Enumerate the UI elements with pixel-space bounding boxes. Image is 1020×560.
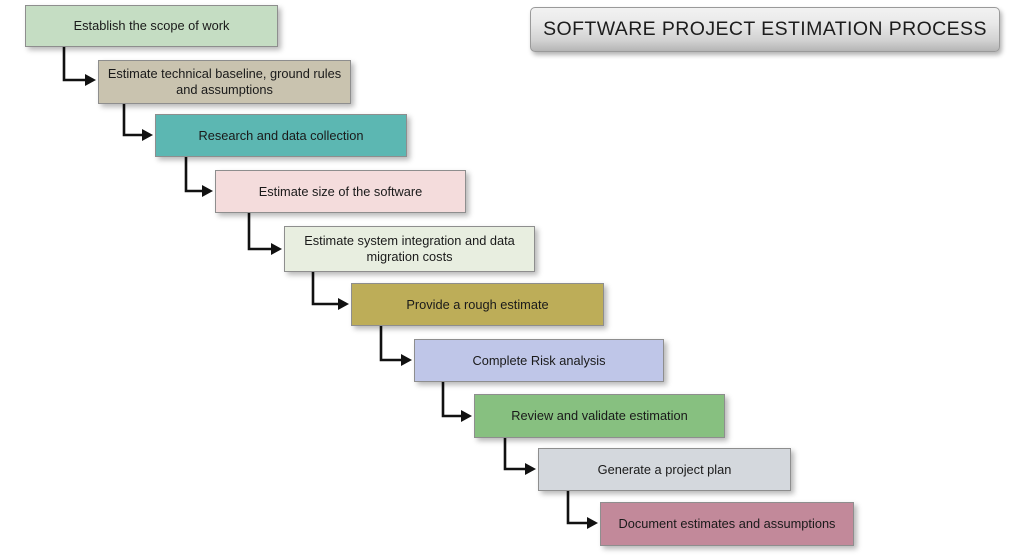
step-label: Provide a rough estimate <box>406 297 548 313</box>
flowchart-canvas: SOFTWARE PROJECT ESTIMATION PROCESS Esta… <box>0 0 1020 560</box>
step-label: Document estimates and assumptions <box>619 516 836 532</box>
connector-arrow <box>186 157 213 197</box>
connector-arrow <box>381 326 412 366</box>
step-label: Complete Risk analysis <box>473 353 606 369</box>
process-step-review-validate[interactable]: Review and validate estimation <box>474 394 725 438</box>
diagram-title-text: SOFTWARE PROJECT ESTIMATION PROCESS <box>543 18 987 41</box>
connector-arrow <box>124 104 153 141</box>
connector-arrow <box>64 47 96 86</box>
process-step-estimate-integration-migration[interactable]: Estimate system integration and data mig… <box>284 226 535 272</box>
connector-arrow <box>443 382 472 422</box>
connector-arrow <box>313 272 349 310</box>
step-label: Generate a project plan <box>598 462 732 478</box>
step-label: Research and data collection <box>198 128 363 144</box>
process-step-research-data-collection[interactable]: Research and data collection <box>155 114 407 157</box>
diagram-title-box: SOFTWARE PROJECT ESTIMATION PROCESS <box>530 7 1000 52</box>
step-label: Establish the scope of work <box>74 18 230 34</box>
process-step-generate-project-plan[interactable]: Generate a project plan <box>538 448 791 491</box>
process-step-establish-scope[interactable]: Establish the scope of work <box>25 5 278 47</box>
process-step-estimate-technical-baseline[interactable]: Estimate technical baseline, ground rule… <box>98 60 351 104</box>
step-label: Review and validate estimation <box>511 408 687 424</box>
process-step-estimate-size[interactable]: Estimate size of the software <box>215 170 466 213</box>
step-label: Estimate system integration and data mig… <box>293 233 526 265</box>
connector-arrow <box>249 213 282 255</box>
connector-arrow <box>568 491 598 529</box>
process-step-document-estimates[interactable]: Document estimates and assumptions <box>600 502 854 546</box>
process-step-risk-analysis[interactable]: Complete Risk analysis <box>414 339 664 382</box>
step-label: Estimate technical baseline, ground rule… <box>107 66 342 98</box>
process-step-rough-estimate[interactable]: Provide a rough estimate <box>351 283 604 326</box>
step-label: Estimate size of the software <box>259 184 423 200</box>
connector-arrow <box>505 438 536 475</box>
